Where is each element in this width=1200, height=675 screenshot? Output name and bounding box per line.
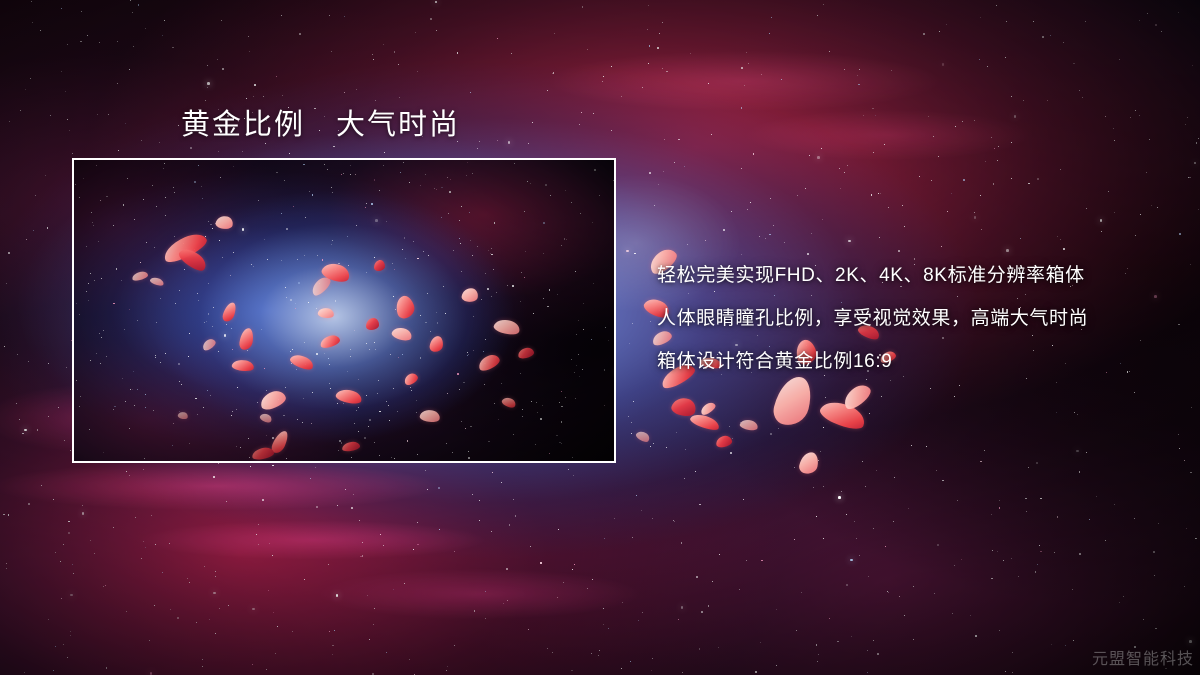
presentation-slide: 黄金比例 大气时尚 轻松完美实现FHD、2K、4K、8K标准分辨率箱体 人体眼睛… — [0, 0, 1200, 675]
petal — [798, 450, 820, 475]
body-line: 轻松完美实现FHD、2K、4K、8K标准分辨率箱体 — [657, 254, 1177, 297]
page-title: 黄金比例 大气时尚 — [181, 101, 460, 143]
petal — [739, 418, 759, 433]
body-line: 箱体设计符合黄金比例16:9 — [657, 340, 1177, 383]
body-line: 人体眼睛瞳孔比例，享受视觉效果，高端大气时尚 — [657, 297, 1177, 340]
picture-frame — [72, 158, 616, 463]
petal — [635, 429, 652, 444]
body-copy: 轻松完美实现FHD、2K、4K、8K标准分辨率箱体 人体眼睛瞳孔比例，享受视觉效… — [657, 254, 1177, 383]
panel-vignette — [74, 160, 614, 461]
petal — [715, 435, 732, 448]
watermark: 元盟智能科技 — [1092, 645, 1194, 669]
